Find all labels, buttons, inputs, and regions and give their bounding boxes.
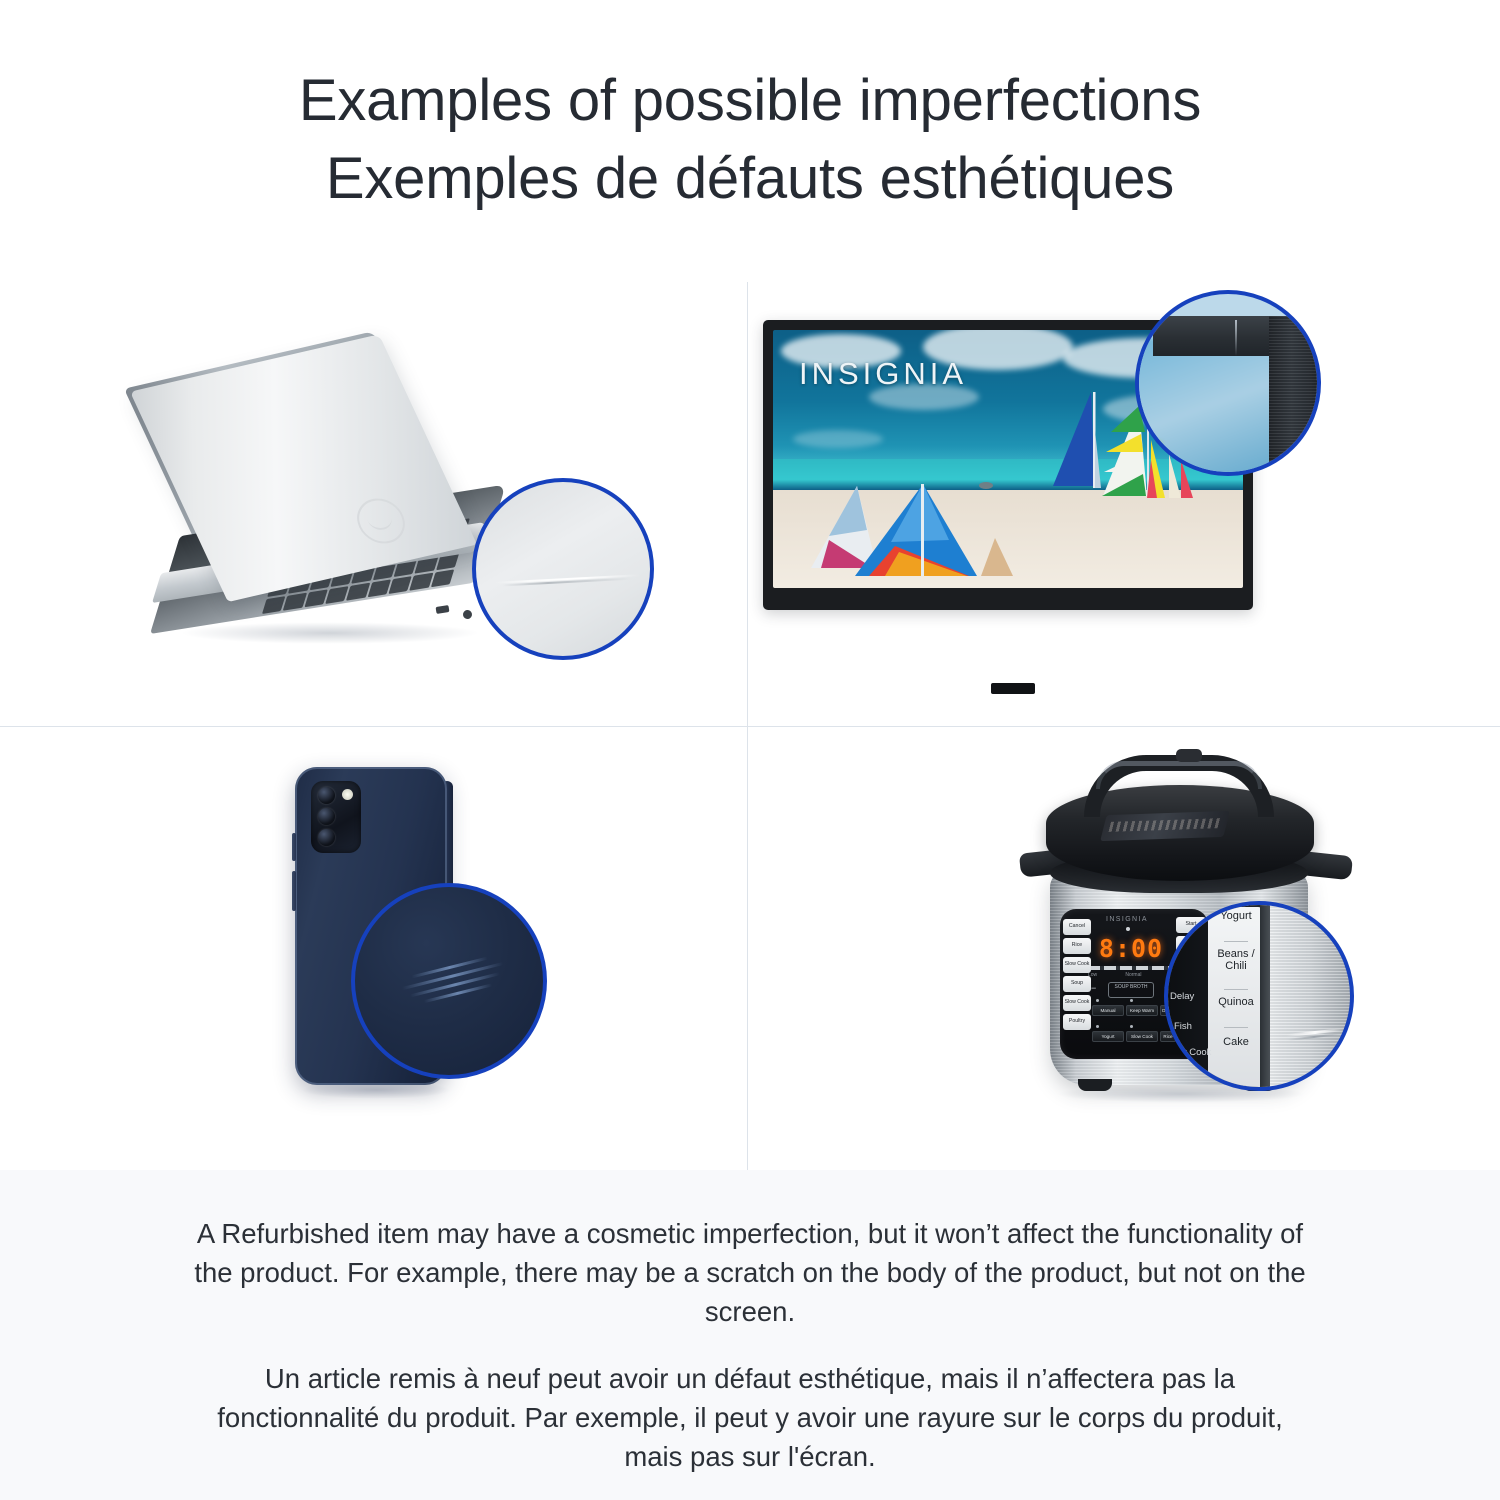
insignia-brand-label: INSIGNIA xyxy=(1106,916,1148,923)
pressure-mode-readout: SOUP BROTH xyxy=(1108,982,1154,998)
magnified-label-fish: Fish xyxy=(1174,1021,1192,1032)
magnifier-circle-television xyxy=(1135,290,1321,476)
examples-grid: INSIGNIA xyxy=(0,282,1500,1170)
cloud-shape xyxy=(793,430,883,448)
smartphone-power-button xyxy=(292,833,296,861)
footer-disclaimer: A Refurbished item may have a cosmetic i… xyxy=(0,1170,1500,1500)
cooker-button-cancel[interactable]: Cancel xyxy=(1063,919,1091,935)
page-title-english: Examples of possible imperfections xyxy=(0,62,1500,140)
pressure-cooker-foot xyxy=(1078,1079,1112,1091)
cooker-button-rice[interactable]: Rice xyxy=(1063,938,1091,954)
pressure-cooker-illustration: INSIGNIA 8:00 Low Normal High − + SOUP B… xyxy=(1026,749,1356,1119)
distant-island xyxy=(979,482,993,489)
camera-lens-icon xyxy=(318,808,335,825)
laptop-audio-jack-icon xyxy=(462,609,472,619)
indicator-led-icon xyxy=(1130,1025,1133,1028)
button-separator xyxy=(1224,1027,1248,1028)
disclaimer-french: Un article remis à neuf peut avoir un dé… xyxy=(190,1359,1310,1476)
magnifier-circle-laptop xyxy=(472,478,654,660)
laptop-illustration xyxy=(150,370,620,660)
cooker-button-soup[interactable]: Soup xyxy=(1063,976,1091,992)
example-cell-television: INSIGNIA xyxy=(748,282,1500,727)
example-cell-smartphone xyxy=(0,727,748,1170)
timer-display: 8:00 xyxy=(1096,934,1166,962)
cooker-inner-button-yogurt[interactable]: Yogurt xyxy=(1092,1031,1124,1042)
laptop-shadow xyxy=(180,622,480,644)
scratch-detail-smartphone xyxy=(397,950,514,1019)
pressure-release-valve xyxy=(1176,749,1202,762)
pressure-level-bar xyxy=(1088,966,1178,970)
indicator-led-icon xyxy=(1130,999,1133,1002)
indicator-led-icon xyxy=(1096,999,1099,1002)
status-led-icon xyxy=(1126,927,1130,931)
left-button-column: Cancel Rice Slow Cook Soup Slow Cook Pou… xyxy=(1063,919,1091,1033)
magnified-button-beans-chili[interactable]: Beans / Chili xyxy=(1210,949,1262,972)
smartphone-volume-button xyxy=(292,871,296,911)
magnifier-circle-smartphone xyxy=(351,883,547,1079)
pressure-label-normal: Normal xyxy=(1125,972,1141,978)
magnified-button-yogurt[interactable]: Yogurt xyxy=(1210,911,1262,923)
magnified-label-delay: Delay xyxy=(1170,991,1194,1002)
smartphone-illustration xyxy=(295,767,475,1117)
beached-sails xyxy=(799,480,1029,588)
camera-module xyxy=(311,781,361,853)
laptop-usb-port-icon xyxy=(436,605,450,614)
cooker-inner-button-manual[interactable]: Manual xyxy=(1092,1005,1124,1016)
example-cell-laptop xyxy=(0,282,748,727)
lid-handle-highlight xyxy=(1096,761,1262,789)
camera-flash-icon xyxy=(342,789,353,800)
insignia-wordmark-on-screen: INSIGNIA xyxy=(799,356,967,392)
cooker-button-slow-cook[interactable]: Slow Cook xyxy=(1063,957,1091,973)
example-cell-pressure-cooker: INSIGNIA 8:00 Low Normal High − + SOUP B… xyxy=(748,727,1500,1170)
television-illustration: INSIGNIA xyxy=(763,320,1263,690)
disclaimer-english: A Refurbished item may have a cosmetic i… xyxy=(190,1214,1310,1331)
refurbished-imperfections-infographic: Examples of possible imperfections Exemp… xyxy=(0,0,1500,1500)
magnified-label-slow-cook: Slow Cook xyxy=(1166,1047,1211,1058)
indicator-led-icon xyxy=(1096,1025,1099,1028)
cooker-button-poultry[interactable]: Poultry xyxy=(1063,1014,1091,1030)
page-title-french: Exemples de défauts esthétiques xyxy=(0,140,1500,218)
cooker-inner-button-keep-warm[interactable]: Keep Warm xyxy=(1126,1005,1158,1016)
button-separator xyxy=(1224,941,1248,942)
button-separator xyxy=(1224,989,1248,990)
magnified-button-cake[interactable]: Cake xyxy=(1210,1037,1262,1049)
scratch-detail-laptop xyxy=(494,574,640,584)
decrease-time-button[interactable]: − xyxy=(1091,983,1096,993)
camera-lens-icon xyxy=(318,829,335,846)
television-ir-receiver xyxy=(991,683,1035,694)
magnified-green-sail xyxy=(1135,442,1161,476)
magnifier-circle-pressure-cooker: Yogurt Beans / Chili Quinoa Cake Delay F… xyxy=(1164,901,1354,1091)
cooker-button-slow-cook-2[interactable]: Slow Cook xyxy=(1063,995,1091,1011)
camera-lens-icon xyxy=(318,787,335,804)
page-header: Examples of possible imperfections Exemp… xyxy=(0,0,1500,219)
cooker-inner-button-slow-cook[interactable]: Slow Cook xyxy=(1126,1031,1158,1042)
magnified-bezel-texture xyxy=(1269,316,1321,476)
scuff-detail-television xyxy=(1235,320,1237,356)
magnified-button-quinoa[interactable]: Quinoa xyxy=(1210,997,1262,1009)
